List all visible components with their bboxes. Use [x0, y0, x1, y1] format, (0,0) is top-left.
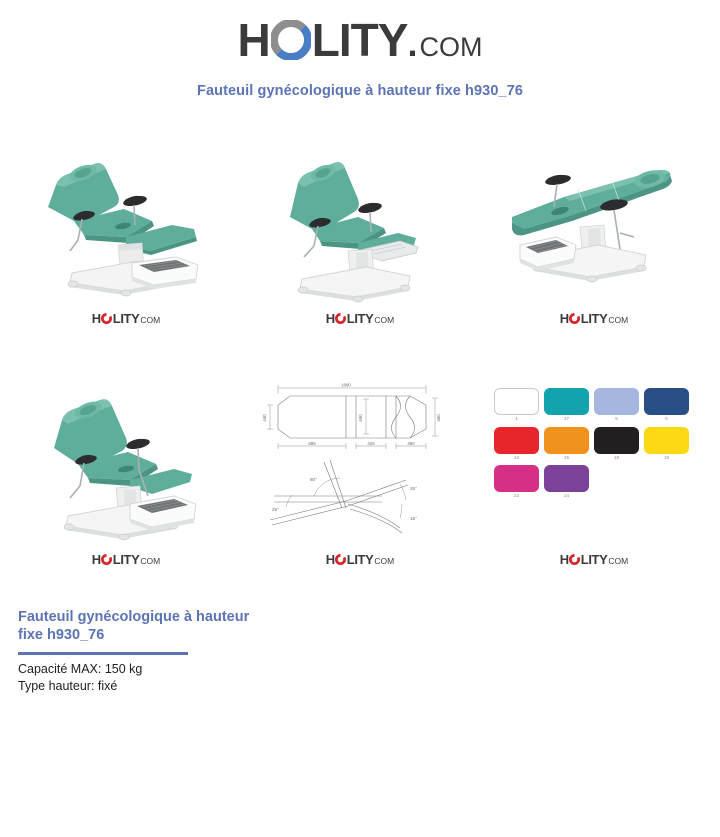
- product-info-block: Fauteuil gynécologique à hauteur fixe h9…: [18, 608, 278, 695]
- swatch-number: 13: [514, 456, 519, 461]
- swatch-number: 15: [564, 456, 569, 461]
- watermark-com: COM: [140, 316, 160, 325]
- logo-letters-lity: LITY: [312, 17, 408, 63]
- dim-section-left: 895: [308, 441, 316, 446]
- product-spec-height-type: Type hauteur: fixé: [18, 678, 278, 695]
- angle-label-1: 80°: [310, 477, 317, 482]
- watermark-o-icon: [335, 553, 346, 564]
- watermark-letter-h: H: [560, 553, 569, 566]
- site-header: H LITY . COM: [0, 0, 720, 63]
- gallery-item-1[interactable]: H LITY COM: [12, 133, 240, 326]
- watermark-com: COM: [608, 557, 628, 566]
- watermark-1: H LITY COM: [92, 310, 160, 326]
- watermark-letter-h: H: [560, 312, 569, 325]
- gallery-item-2[interactable]: H LITY COM: [246, 133, 474, 326]
- gallery-item-5[interactable]: 1880 440 895 425 490 690 460: [246, 374, 474, 567]
- swatch-color[interactable]: [544, 388, 589, 415]
- watermark-letters-lity: LITY: [581, 312, 608, 325]
- swatch-color[interactable]: [544, 427, 589, 454]
- watermark-logo: H LITY COM: [92, 311, 160, 325]
- product-image-3[interactable]: [494, 133, 694, 308]
- gallery-item-6[interactable]: 11756131518192324 H LITY COM: [480, 374, 708, 567]
- product-divider: [18, 652, 188, 655]
- swatch-number: 5: [615, 417, 618, 422]
- swatch-item[interactable]: 13: [494, 427, 539, 461]
- logo-com: COM: [419, 34, 482, 61]
- watermark-2: H LITY COM: [326, 310, 394, 326]
- technical-drawing[interactable]: 1880 440 895 425 490 690 460: [260, 374, 460, 549]
- angle-label-2: 25°: [410, 486, 417, 491]
- watermark-letter-h: H: [326, 312, 335, 325]
- logo-letter-h: H: [238, 17, 270, 63]
- site-logo[interactable]: H LITY . COM: [238, 16, 483, 63]
- watermark-5: H LITY COM: [326, 551, 394, 567]
- gallery-item-4[interactable]: H LITY COM: [12, 374, 240, 567]
- page-title: Fauteuil gynécologique à hauteur fixe h9…: [0, 83, 720, 99]
- swatch-number: 19: [664, 456, 669, 461]
- watermark-letters-lity: LITY: [113, 312, 140, 325]
- swatch-color[interactable]: [644, 427, 689, 454]
- product-name: Fauteuil gynécologique à hauteur fixe h9…: [18, 608, 278, 644]
- dim-section-right: 490: [407, 441, 415, 446]
- watermark-letter-h: H: [92, 312, 101, 325]
- watermark-logo: H LITY COM: [326, 552, 394, 566]
- watermark-letter-h: H: [92, 553, 101, 566]
- swatch-number: 1: [515, 417, 518, 422]
- product-image-2[interactable]: [260, 133, 460, 308]
- swatch-grid: 11756131518192324: [494, 374, 694, 499]
- swatch-item[interactable]: 18: [594, 427, 639, 461]
- swatch-color[interactable]: [644, 388, 689, 415]
- product-spec-capacity: Capacité MAX: 150 kg: [18, 661, 278, 678]
- swatch-color[interactable]: [494, 465, 539, 492]
- watermark-com: COM: [374, 316, 394, 325]
- angle-label-4: 15°: [410, 516, 417, 521]
- dim-mid-height: 690: [358, 414, 363, 422]
- watermark-3: H LITY COM: [560, 310, 628, 326]
- watermark-o-icon: [101, 312, 112, 323]
- gallery-item-3[interactable]: H LITY COM: [480, 133, 708, 326]
- swatch-item[interactable]: 17: [544, 388, 589, 422]
- swatch-number: 18: [614, 456, 619, 461]
- color-chart[interactable]: 11756131518192324: [494, 374, 694, 549]
- swatch-color[interactable]: [594, 388, 639, 415]
- watermark-com: COM: [374, 557, 394, 566]
- swatch-color[interactable]: [494, 388, 539, 415]
- swatch-item[interactable]: 1: [494, 388, 539, 422]
- swatch-color[interactable]: [494, 427, 539, 454]
- watermark-letters-lity: LITY: [347, 553, 374, 566]
- swatch-color[interactable]: [594, 427, 639, 454]
- watermark-com: COM: [608, 316, 628, 325]
- swatch-item[interactable]: 23: [494, 465, 539, 499]
- watermark-com: COM: [140, 557, 160, 566]
- watermark-logo: H LITY COM: [92, 552, 160, 566]
- swatch-number: 17: [564, 417, 569, 422]
- watermark-o-icon: [101, 553, 112, 564]
- watermark-logo: H LITY COM: [560, 552, 628, 566]
- swatch-item[interactable]: 6: [644, 388, 689, 422]
- swatch-item[interactable]: 15: [544, 427, 589, 461]
- dim-right-height: 460: [436, 414, 441, 422]
- swatch-item[interactable]: 24: [544, 465, 589, 499]
- watermark-o-icon: [335, 312, 346, 323]
- watermark-letter-h: H: [326, 553, 335, 566]
- swatch-item[interactable]: 19: [644, 427, 689, 461]
- watermark-4: H LITY COM: [92, 551, 160, 567]
- swatch-number: 24: [564, 494, 569, 499]
- watermark-6: H LITY COM: [560, 551, 628, 567]
- swatch-number: 23: [514, 494, 519, 499]
- dim-total-length: 1880: [341, 383, 351, 388]
- swatch-item[interactable]: 5: [594, 388, 639, 422]
- product-gallery: H LITY COM: [0, 133, 720, 567]
- logo-dot: .: [407, 26, 417, 62]
- dim-width-left: 440: [262, 414, 267, 422]
- product-image-4[interactable]: [26, 374, 226, 549]
- watermark-o-icon: [569, 312, 580, 323]
- gallery-row-1: H LITY COM: [12, 133, 708, 326]
- gallery-row-2: H LITY COM: [12, 374, 708, 567]
- product-image-1[interactable]: [26, 133, 226, 308]
- watermark-logo: H LITY COM: [326, 311, 394, 325]
- swatch-color[interactable]: [544, 465, 589, 492]
- watermark-letters-lity: LITY: [347, 312, 374, 325]
- watermark-o-icon: [569, 553, 580, 564]
- logo-o-icon: [271, 20, 311, 60]
- watermark-logo: H LITY COM: [560, 311, 628, 325]
- angle-label-3: 25°: [272, 507, 279, 512]
- swatch-number: 6: [665, 417, 668, 422]
- dim-section-mid: 425: [367, 441, 375, 446]
- watermark-letters-lity: LITY: [581, 553, 608, 566]
- watermark-letters-lity: LITY: [113, 553, 140, 566]
